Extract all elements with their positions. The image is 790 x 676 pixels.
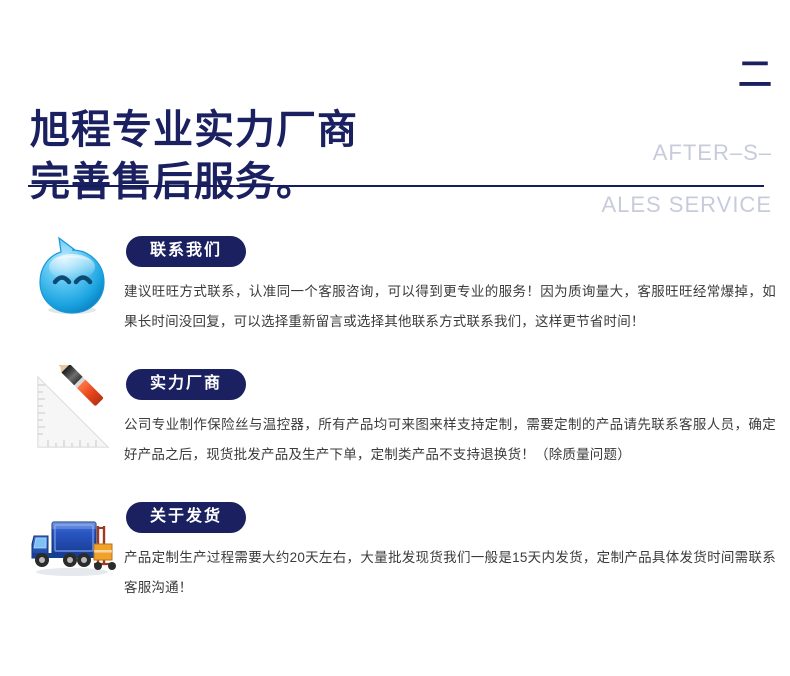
badge-contact-us: 联系我们	[126, 236, 246, 267]
header-divider	[28, 185, 764, 187]
delivery-truck-icon	[28, 498, 116, 588]
section-manufacturer-strength: 实力厂商 公司专业制作保险丝与温控器，所有产品均可来图来样支持定制，需要定制的产…	[0, 365, 790, 470]
badge-manufacturer-strength: 实力厂商	[126, 369, 246, 400]
section-about-shipping-body: 关于发货 产品定制生产过程需要大约20天左右，大量批发现货我们一般是15天内发货…	[124, 498, 790, 603]
section-contact-us-body: 联系我们 建议旺旺方式联系，认准同一个客服咨询，可以得到更专业的服务！因为质询量…	[124, 232, 790, 337]
section-about-shipping: 关于发货 产品定制生产过程需要大约20天左右，大量批发现货我们一般是15天内发货…	[0, 498, 790, 603]
section-manufacturer-strength-body: 实力厂商 公司专业制作保险丝与温控器，所有产品均可来图来样支持定制，需要定制的产…	[124, 365, 790, 470]
header-english-line-1: AFTER–S–	[653, 140, 772, 165]
page-title-line-1: 旭程专业实力厂商	[30, 108, 358, 152]
badge-about-shipping: 关于发货	[126, 502, 246, 533]
pencil-ruler-icon	[28, 365, 116, 455]
page-header: 旭程专业实力厂商 完善售后服务。 二 AFTER–S– ALES SERVICE	[0, 0, 790, 190]
section-contact-us: 联系我们 建议旺旺方式联系，认准同一个客服咨询，可以得到更专业的服务！因为质询量…	[0, 232, 790, 337]
section-numeral-two: 二	[512, 58, 772, 102]
wangwang-chat-bubble-icon	[28, 232, 116, 322]
service-sections: 联系我们 建议旺旺方式联系，认准同一个客服咨询，可以得到更专业的服务！因为质询量…	[0, 190, 790, 603]
paragraph-contact-us: 建议旺旺方式联系，认准同一个客服咨询，可以得到更专业的服务！因为质询量大，客服旺…	[124, 277, 780, 337]
paragraph-about-shipping: 产品定制生产过程需要大约20天左右，大量批发现货我们一般是15天内发货，定制产品…	[124, 543, 780, 603]
paragraph-manufacturer-strength: 公司专业制作保险丝与温控器，所有产品均可来图来样支持定制，需要定制的产品请先联系…	[124, 410, 780, 470]
